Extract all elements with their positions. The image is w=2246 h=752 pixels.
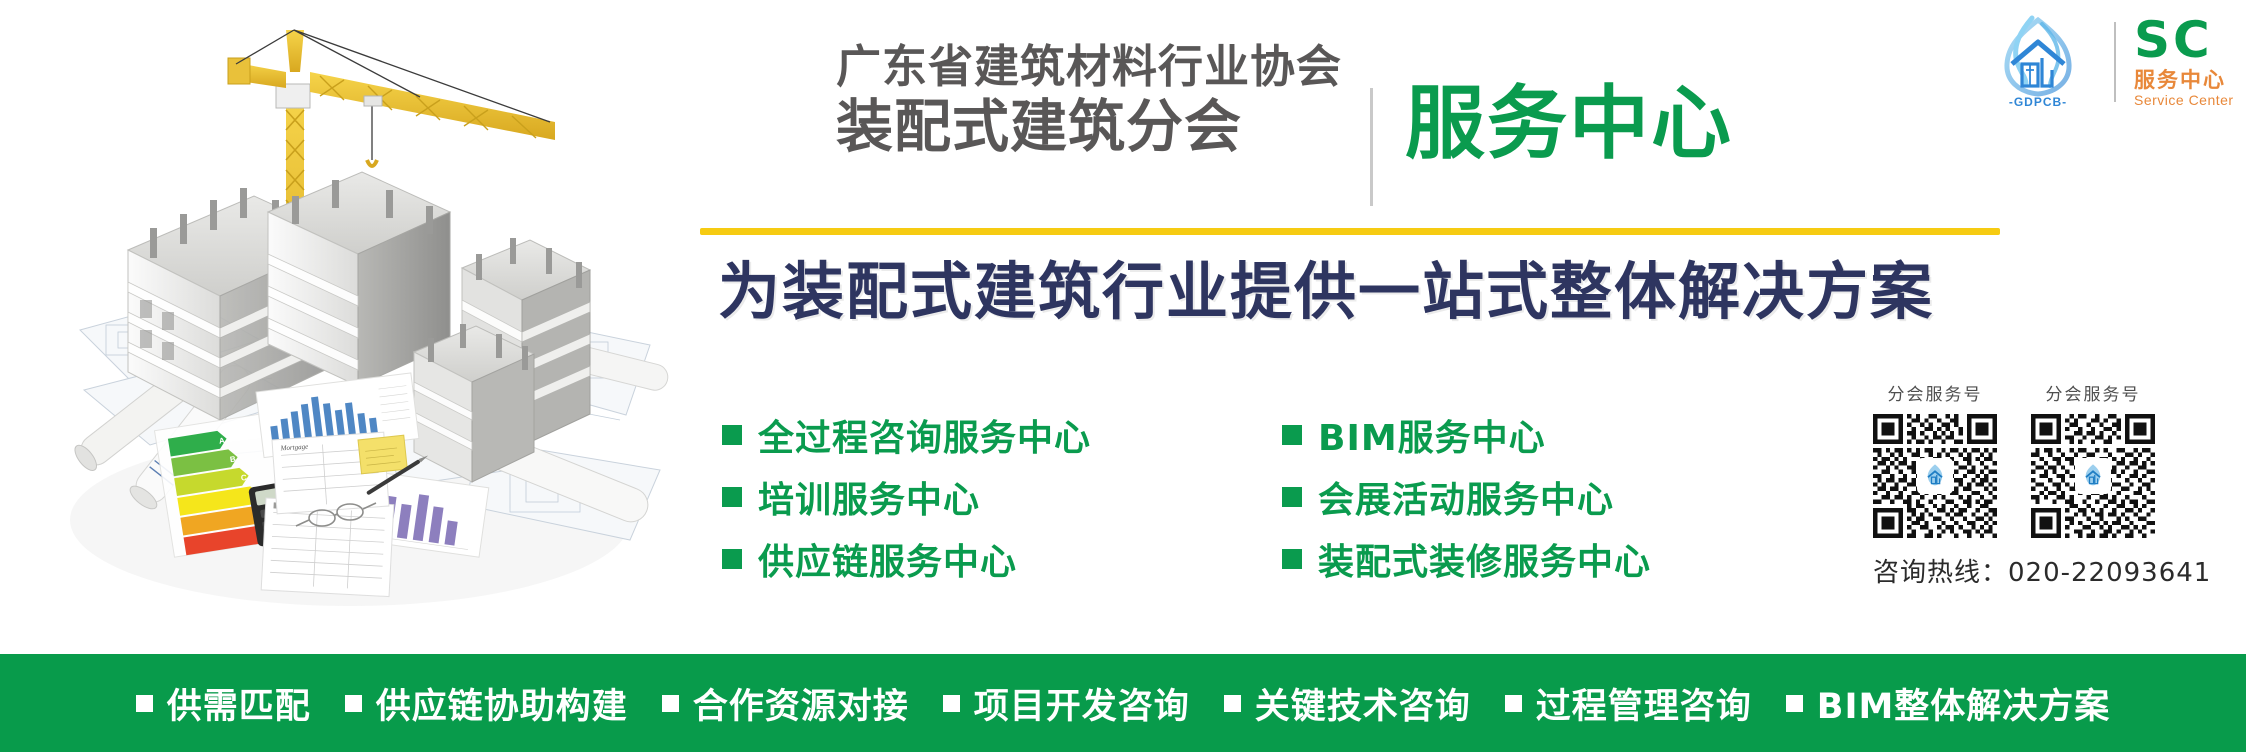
qr-code-image[interactable] [1873,414,1997,538]
bottom-item-label: 关键技术咨询 [1255,678,1471,729]
service-label: 供应链服务中心 [758,533,1017,585]
bottom-item[interactable]: 合作资源对接 [662,678,909,729]
bottom-green-bar: 供需匹配 供应链协助构建 合作资源对接 项目开发咨询 关键技术咨询 过程管理咨询 [0,654,2246,752]
service-item[interactable]: BIM服务中心 [1282,404,1702,466]
org-title: 广东省建筑材料行业协会 装配式建筑分会 [836,44,1342,156]
bottom-item[interactable]: 供应链协助构建 [345,678,628,729]
bottom-item-label: BIM整体解决方案 [1817,678,2111,729]
qr-cell: 分会服务号 [2031,380,2155,538]
bottom-item-label: 项目开发咨询 [974,678,1190,729]
qr-embedded-logo-icon [1917,458,1953,494]
service-center-heading: 服务中心 [1405,84,1733,164]
bullet-square-icon [1282,487,1302,507]
yellow-divider-rule [700,228,2000,235]
bullet-square-icon [662,695,679,712]
org-title-line2: 装配式建筑分会 [836,99,1342,156]
svg-text:-GDPCB-: -GDPCB- [2009,95,2067,109]
bottom-item-list: 供需匹配 供应链协助构建 合作资源对接 项目开发咨询 关键技术咨询 过程管理咨询 [136,678,2111,729]
service-label: 装配式装修服务中心 [1318,533,1651,585]
bottom-item-label: 供需匹配 [167,678,311,729]
qr-label: 分会服务号 [2046,380,2141,405]
sc-initials: SC [2134,15,2213,65]
qr-cell: 分会服务号 [1873,380,1997,538]
tagline: 为装配式建筑行业提供一站式整体解决方案 [718,258,1934,326]
qr-row: 分会服务号 [1873,380,2211,538]
bullet-square-icon [1224,695,1241,712]
bottom-item[interactable]: 过程管理咨询 [1505,678,1752,729]
sc-wordmark: SC 服务中心 Service Center [2134,15,2234,109]
bullet-square-icon [1282,425,1302,445]
bullet-square-icon [136,695,153,712]
hotline-text: 咨询热线：020-22093641 [1873,552,2211,589]
bottom-item-label: 合作资源对接 [693,678,909,729]
bullet-square-icon [943,695,960,712]
bullet-square-icon [1282,549,1302,569]
service-column-left: 全过程咨询服务中心 培训服务中心 供应链服务中心 [722,404,1282,590]
promo-banner: ABC DEF [0,0,2246,752]
bullet-square-icon [722,487,742,507]
service-item[interactable]: 全过程咨询服务中心 [722,404,1282,466]
bullet-square-icon [1786,695,1803,712]
service-label: 培训服务中心 [758,471,980,523]
service-item[interactable]: 培训服务中心 [722,466,1282,528]
bullet-square-icon [722,425,742,445]
header-title-row: 广东省建筑材料行业协会 装配式建筑分会 服务中心 [836,44,1733,206]
service-label: BIM服务中心 [1318,409,1546,461]
service-column-right: BIM服务中心 会展活动服务中心 装配式装修服务中心 [1282,404,1702,590]
qr-contact-block: 分会服务号 [1873,380,2211,589]
bottom-item-label: 过程管理咨询 [1536,678,1752,729]
construction-photo: ABC DEF [10,0,670,640]
service-label: 会展活动服务中心 [1318,471,1614,523]
qr-label: 分会服务号 [1888,380,1983,405]
sc-english-label: Service Center [2134,92,2234,109]
title-divider [1370,88,1373,206]
logo-separator [2114,22,2116,102]
bullet-square-icon [345,695,362,712]
gdpcb-logo-icon: -GDPCB- [1980,14,2096,110]
service-label: 全过程咨询服务中心 [758,409,1091,461]
service-lists: 全过程咨询服务中心 培训服务中心 供应链服务中心 BIM服务中心 会展活动服务中… [722,404,1702,590]
qr-code-image[interactable] [2031,414,2155,538]
sc-chinese-label: 服务中心 [2134,69,2226,92]
org-title-line1: 广东省建筑材料行业协会 [836,44,1342,89]
bottom-item[interactable]: BIM整体解决方案 [1786,678,2111,729]
bullet-square-icon [1505,695,1522,712]
bottom-item-label: 供应链协助构建 [376,678,628,729]
bullet-square-icon [722,549,742,569]
service-item[interactable]: 装配式装修服务中心 [1282,528,1702,590]
logo-block: -GDPCB- SC 服务中心 Service Center [1980,14,2234,110]
bottom-item[interactable]: 供需匹配 [136,678,311,729]
qr-embedded-logo-icon [2075,458,2111,494]
bottom-item[interactable]: 关键技术咨询 [1224,678,1471,729]
service-item[interactable]: 供应链服务中心 [722,528,1282,590]
bottom-item[interactable]: 项目开发咨询 [943,678,1190,729]
service-item[interactable]: 会展活动服务中心 [1282,466,1702,528]
